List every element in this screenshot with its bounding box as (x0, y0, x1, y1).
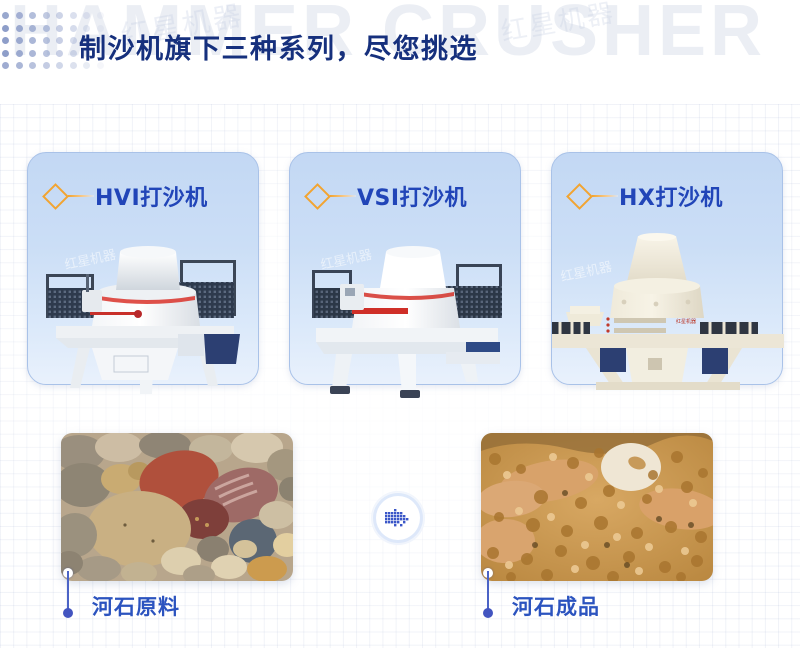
machine-image-hvi (28, 230, 260, 400)
card-header-vsi: VSI打沙机 (308, 181, 467, 211)
pixel-arrow-right-icon (384, 508, 412, 528)
connector-line-icon (330, 195, 356, 198)
photo-river-pebbles[interactable] (61, 433, 293, 581)
card-header-hx: HX打沙机 (570, 181, 723, 211)
marker-dot-bottom-icon (483, 608, 493, 618)
process-arrow-badge (371, 491, 425, 545)
diamond-icon (566, 183, 593, 210)
marker-crushed-sand (482, 568, 494, 624)
diamond-icon (304, 183, 331, 210)
card-title-hvi: HVI打沙机 (95, 180, 208, 212)
machine-image-vsi (290, 230, 522, 400)
machine-image-hx: 红星机器 (552, 230, 784, 400)
label-crushed-sand: 河石成品 (512, 591, 600, 621)
marker-dot-bottom-icon (63, 608, 73, 618)
connector-line-icon (68, 195, 94, 198)
connector-line-icon (592, 195, 618, 198)
label-river-pebbles: 河石原料 (92, 591, 180, 621)
promo-page: HAMMER CRUSHER 红星机器 红星机器 制沙机旗下三种系列，尽您挑选 … (0, 0, 800, 648)
diamond-icon (42, 183, 69, 210)
machine-card-hvi[interactable]: HVI打沙机 红星机器 (27, 152, 259, 385)
card-title-vsi: VSI打沙机 (357, 180, 467, 212)
card-title-hx: HX打沙机 (619, 180, 723, 212)
machine-card-hx[interactable]: HX打沙机 红星机器 (551, 152, 783, 385)
photo-crushed-sand[interactable] (481, 433, 713, 581)
card-header-hvi: HVI打沙机 (46, 181, 208, 211)
marker-river-pebbles (62, 568, 74, 624)
machine-card-vsi[interactable]: VSI打沙机 红星机器 (289, 152, 521, 385)
svg-text:红星机器: 红星机器 (676, 318, 696, 325)
